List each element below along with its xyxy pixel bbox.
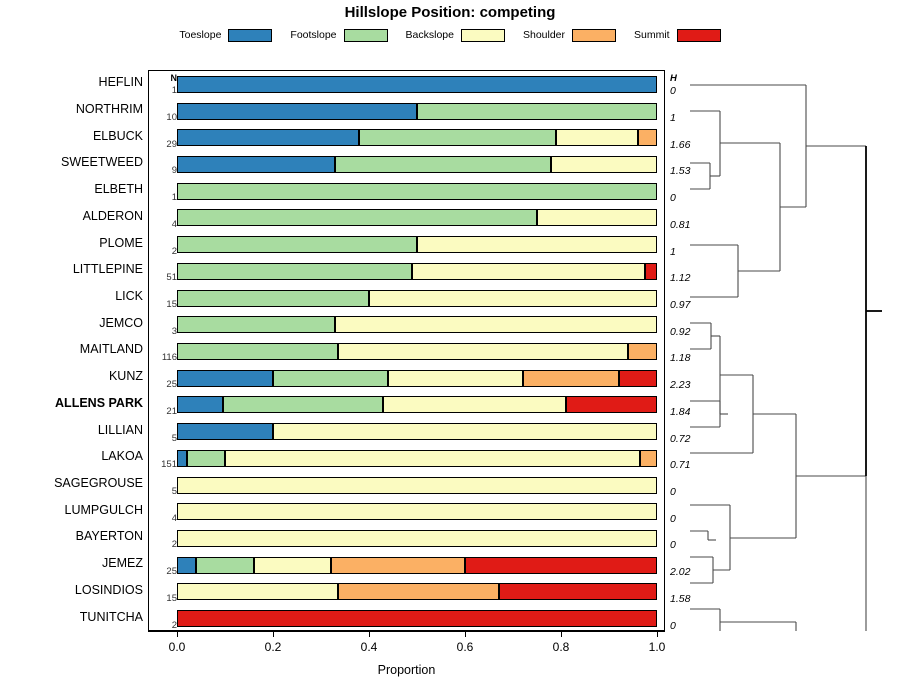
bar-segment-shoulder — [338, 583, 499, 600]
stacked-bar — [177, 156, 657, 173]
bar-segment-toeslope — [177, 370, 273, 387]
chart-row: KUNZ252.23 — [149, 365, 664, 392]
row-label-alderon: ALDERON — [3, 209, 143, 223]
row-label-allens-park: ALLENS PARK — [3, 396, 143, 410]
row-n-value: 4 — [151, 513, 177, 524]
chart-row: PLOME21 — [149, 231, 664, 258]
legend: ToeslopeFootslopeBackslopeShoulderSummit — [0, 25, 900, 45]
row-n-value: 9 — [151, 165, 177, 176]
legend-item: Backslope — [406, 29, 505, 42]
bar-segment-backslope — [177, 477, 657, 494]
chart-row: LILLIAN50.72 — [149, 418, 664, 445]
bar-segment-backslope — [369, 290, 657, 307]
bar-segment-backslope — [388, 370, 522, 387]
stacked-bar — [177, 290, 657, 307]
row-n-value: 5 — [151, 486, 177, 497]
row-label-jemez: JEMEZ — [3, 556, 143, 570]
bar-segment-toeslope — [177, 423, 273, 440]
legend-item-label: Shoulder — [523, 29, 565, 41]
row-n-value: 5 — [151, 433, 177, 444]
chart-row: ELBUCK291.66 — [149, 124, 664, 151]
x-axis-tick-label: 0.2 — [248, 640, 298, 654]
chart-row: JEMEZ252.02 — [149, 552, 664, 579]
stacked-bar — [177, 129, 657, 146]
x-axis-tick-label: 1.0 — [632, 640, 682, 654]
stacked-bar — [177, 343, 657, 360]
chart-row: ELBETH10 — [149, 178, 664, 205]
row-n-value: 51 — [151, 272, 177, 283]
stacked-bar — [177, 183, 657, 200]
row-n-value: 15 — [151, 593, 177, 604]
bar-segment-footslope — [417, 103, 657, 120]
row-n-value: 2 — [151, 246, 177, 257]
stacked-bar — [177, 557, 657, 574]
stacked-bar — [177, 396, 657, 413]
bar-segment-backslope — [556, 129, 638, 146]
chart-row: SWEETWEED91.53 — [149, 151, 664, 178]
row-n-value: 29 — [151, 139, 177, 150]
bar-segment-backslope — [273, 423, 657, 440]
row-n-value: 1 — [151, 192, 177, 203]
x-axis-tick-label: 0.6 — [440, 640, 490, 654]
bar-segment-toeslope — [177, 129, 359, 146]
dendrogram-svg — [668, 70, 900, 631]
chart-row: LITTLEPINE511.12 — [149, 258, 664, 285]
bar-segment-backslope — [383, 396, 565, 413]
bar-segment-backslope — [177, 503, 657, 520]
chart-title: Hillslope Position: competing — [0, 4, 900, 21]
row-label-kunz: KUNZ — [3, 369, 143, 383]
row-label-tunitcha: TUNITCHA — [3, 610, 143, 624]
chart-row: SAGEGROUSE50 — [149, 472, 664, 499]
row-n-value: 10 — [151, 112, 177, 123]
bar-segment-backslope — [177, 530, 657, 547]
chart-row: ALDERON40.81 — [149, 205, 664, 232]
row-label-jemco: JEMCO — [3, 316, 143, 330]
row-n-value: 25 — [151, 566, 177, 577]
bar-segment-backslope — [254, 557, 331, 574]
row-label-plome: PLOME — [3, 236, 143, 250]
bar-segment-backslope — [412, 263, 645, 280]
row-n-value: 25 — [151, 379, 177, 390]
legend-swatch — [228, 29, 272, 42]
row-n-value: 2 — [151, 620, 177, 631]
row-label-losindios: LOSINDIOS — [3, 583, 143, 597]
x-axis-tick-label: 0.8 — [536, 640, 586, 654]
stacked-bar — [177, 477, 657, 494]
x-axis-tick — [465, 631, 466, 637]
row-n-value: 3 — [151, 326, 177, 337]
bar-segment-summit — [619, 370, 657, 387]
row-label-sweetweed: SWEETWEED — [3, 155, 143, 169]
row-label-bayerton: BAYERTON — [3, 529, 143, 543]
row-n-value: 4 — [151, 219, 177, 230]
legend-item: Toeslope — [179, 29, 272, 42]
legend-swatch — [344, 29, 388, 42]
chart-row: NORTHRIM101 — [149, 98, 664, 125]
bar-segment-summit — [465, 557, 657, 574]
bar-segment-toeslope — [177, 76, 657, 93]
bar-segment-footslope — [223, 396, 384, 413]
stacked-bar — [177, 76, 657, 93]
bar-segment-footslope — [177, 316, 335, 333]
row-n-value: 1 — [151, 85, 177, 96]
legend-item-label: Toeslope — [179, 29, 221, 41]
chart-row: MAITLAND1161.18 — [149, 338, 664, 365]
bar-segment-summit — [499, 583, 657, 600]
bar-segment-shoulder — [628, 343, 657, 360]
stacked-bar — [177, 316, 657, 333]
bar-segment-toeslope — [177, 557, 196, 574]
legend-item-label: Backslope — [406, 29, 454, 41]
x-axis-title: Proportion — [148, 663, 665, 677]
row-label-littlepine: LITTLEPINE — [3, 262, 143, 276]
x-axis-tick-label: 0.0 — [152, 640, 202, 654]
row-label-lillian: LILLIAN — [3, 423, 143, 437]
bar-segment-shoulder — [523, 370, 619, 387]
x-axis-tick — [273, 631, 274, 637]
x-axis-tick-label: 0.4 — [344, 640, 394, 654]
bar-segment-toeslope — [177, 156, 335, 173]
bar-segment-backslope — [335, 316, 657, 333]
bar-segment-footslope — [177, 263, 412, 280]
bar-segment-footslope — [177, 183, 657, 200]
bar-segment-footslope — [335, 156, 551, 173]
x-axis-tick — [177, 631, 178, 637]
bar-segment-backslope — [537, 209, 657, 226]
bar-segment-summit — [645, 263, 657, 280]
bar-segment-footslope — [177, 236, 417, 253]
bar-segment-backslope — [338, 343, 628, 360]
row-n-value: 15 — [151, 299, 177, 310]
dendrogram — [668, 70, 900, 631]
chart-row: LICK150.97 — [149, 285, 664, 312]
bar-segment-backslope — [417, 236, 657, 253]
row-n-value: 21 — [151, 406, 177, 417]
legend-swatch — [572, 29, 616, 42]
bar-segment-footslope — [196, 557, 254, 574]
stacked-bar — [177, 423, 657, 440]
bar-segment-backslope — [551, 156, 657, 173]
stacked-bar — [177, 530, 657, 547]
bar-segment-backslope — [225, 450, 640, 467]
bar-segment-toeslope — [177, 103, 417, 120]
legend-item: Shoulder — [523, 29, 616, 42]
legend-swatch — [677, 29, 721, 42]
row-n-value: 2 — [151, 539, 177, 550]
x-axis-tick — [369, 631, 370, 637]
row-label-lakoa: LAKOA — [3, 449, 143, 463]
bar-segment-footslope — [359, 129, 556, 146]
bar-segment-footslope — [177, 290, 369, 307]
bar-segment-shoulder — [640, 450, 657, 467]
row-label-northrim: NORTHRIM — [3, 102, 143, 116]
row-label-lumpgulch: LUMPGULCH — [3, 503, 143, 517]
bar-segment-summit — [566, 396, 657, 413]
stacked-bar — [177, 503, 657, 520]
legend-item: Footslope — [290, 29, 387, 42]
chart-root: Hillslope Position: competing ToeslopeFo… — [0, 0, 900, 700]
row-label-maitland: MAITLAND — [3, 342, 143, 356]
chart-row: BAYERTON20 — [149, 525, 664, 552]
row-label-heflin: HEFLIN — [3, 75, 143, 89]
legend-swatch — [461, 29, 505, 42]
bar-segment-footslope — [273, 370, 388, 387]
bar-segment-shoulder — [331, 557, 465, 574]
stacked-bar-panel: N H HEFLIN10NORTHRIM101ELBUCK291.66SWEET… — [148, 70, 665, 631]
row-n-value: 116 — [151, 352, 177, 363]
row-n-value: 151 — [151, 459, 177, 470]
stacked-bar — [177, 236, 657, 253]
bar-segment-toeslope — [177, 450, 187, 467]
legend-item-label: Summit — [634, 29, 670, 41]
legend-item-label: Footslope — [290, 29, 336, 41]
row-label-elbuck: ELBUCK — [3, 129, 143, 143]
row-label-elbeth: ELBETH — [3, 182, 143, 196]
chart-row: LUMPGULCH40 — [149, 498, 664, 525]
x-axis-tick — [561, 631, 562, 637]
stacked-bar — [177, 103, 657, 120]
chart-row: LOSINDIOS151.58 — [149, 579, 664, 606]
bar-segment-shoulder — [638, 129, 657, 146]
x-axis-line — [148, 631, 665, 632]
row-label-lick: LICK — [3, 289, 143, 303]
stacked-bar — [177, 263, 657, 280]
bar-segment-footslope — [177, 209, 537, 226]
chart-row: ALLENS PARK211.84 — [149, 392, 664, 419]
bars-container: N H HEFLIN10NORTHRIM101ELBUCK291.66SWEET… — [149, 71, 664, 630]
chart-row: TUNITCHA20 — [149, 605, 664, 632]
chart-row: LAKOA1510.71 — [149, 445, 664, 472]
chart-row: JEMCO30.92 — [149, 311, 664, 338]
row-label-sagegrouse: SAGEGROUSE — [3, 476, 143, 490]
stacked-bar — [177, 209, 657, 226]
bar-segment-toeslope — [177, 396, 223, 413]
chart-row: HEFLIN10 — [149, 71, 664, 98]
bar-segment-backslope — [177, 583, 338, 600]
bar-segment-footslope — [187, 450, 225, 467]
stacked-bar — [177, 370, 657, 387]
bar-segment-summit — [177, 610, 657, 627]
stacked-bar — [177, 450, 657, 467]
stacked-bar — [177, 583, 657, 600]
x-axis-tick — [657, 631, 658, 637]
bar-segment-footslope — [177, 343, 338, 360]
legend-item: Summit — [634, 29, 721, 42]
stacked-bar — [177, 610, 657, 627]
